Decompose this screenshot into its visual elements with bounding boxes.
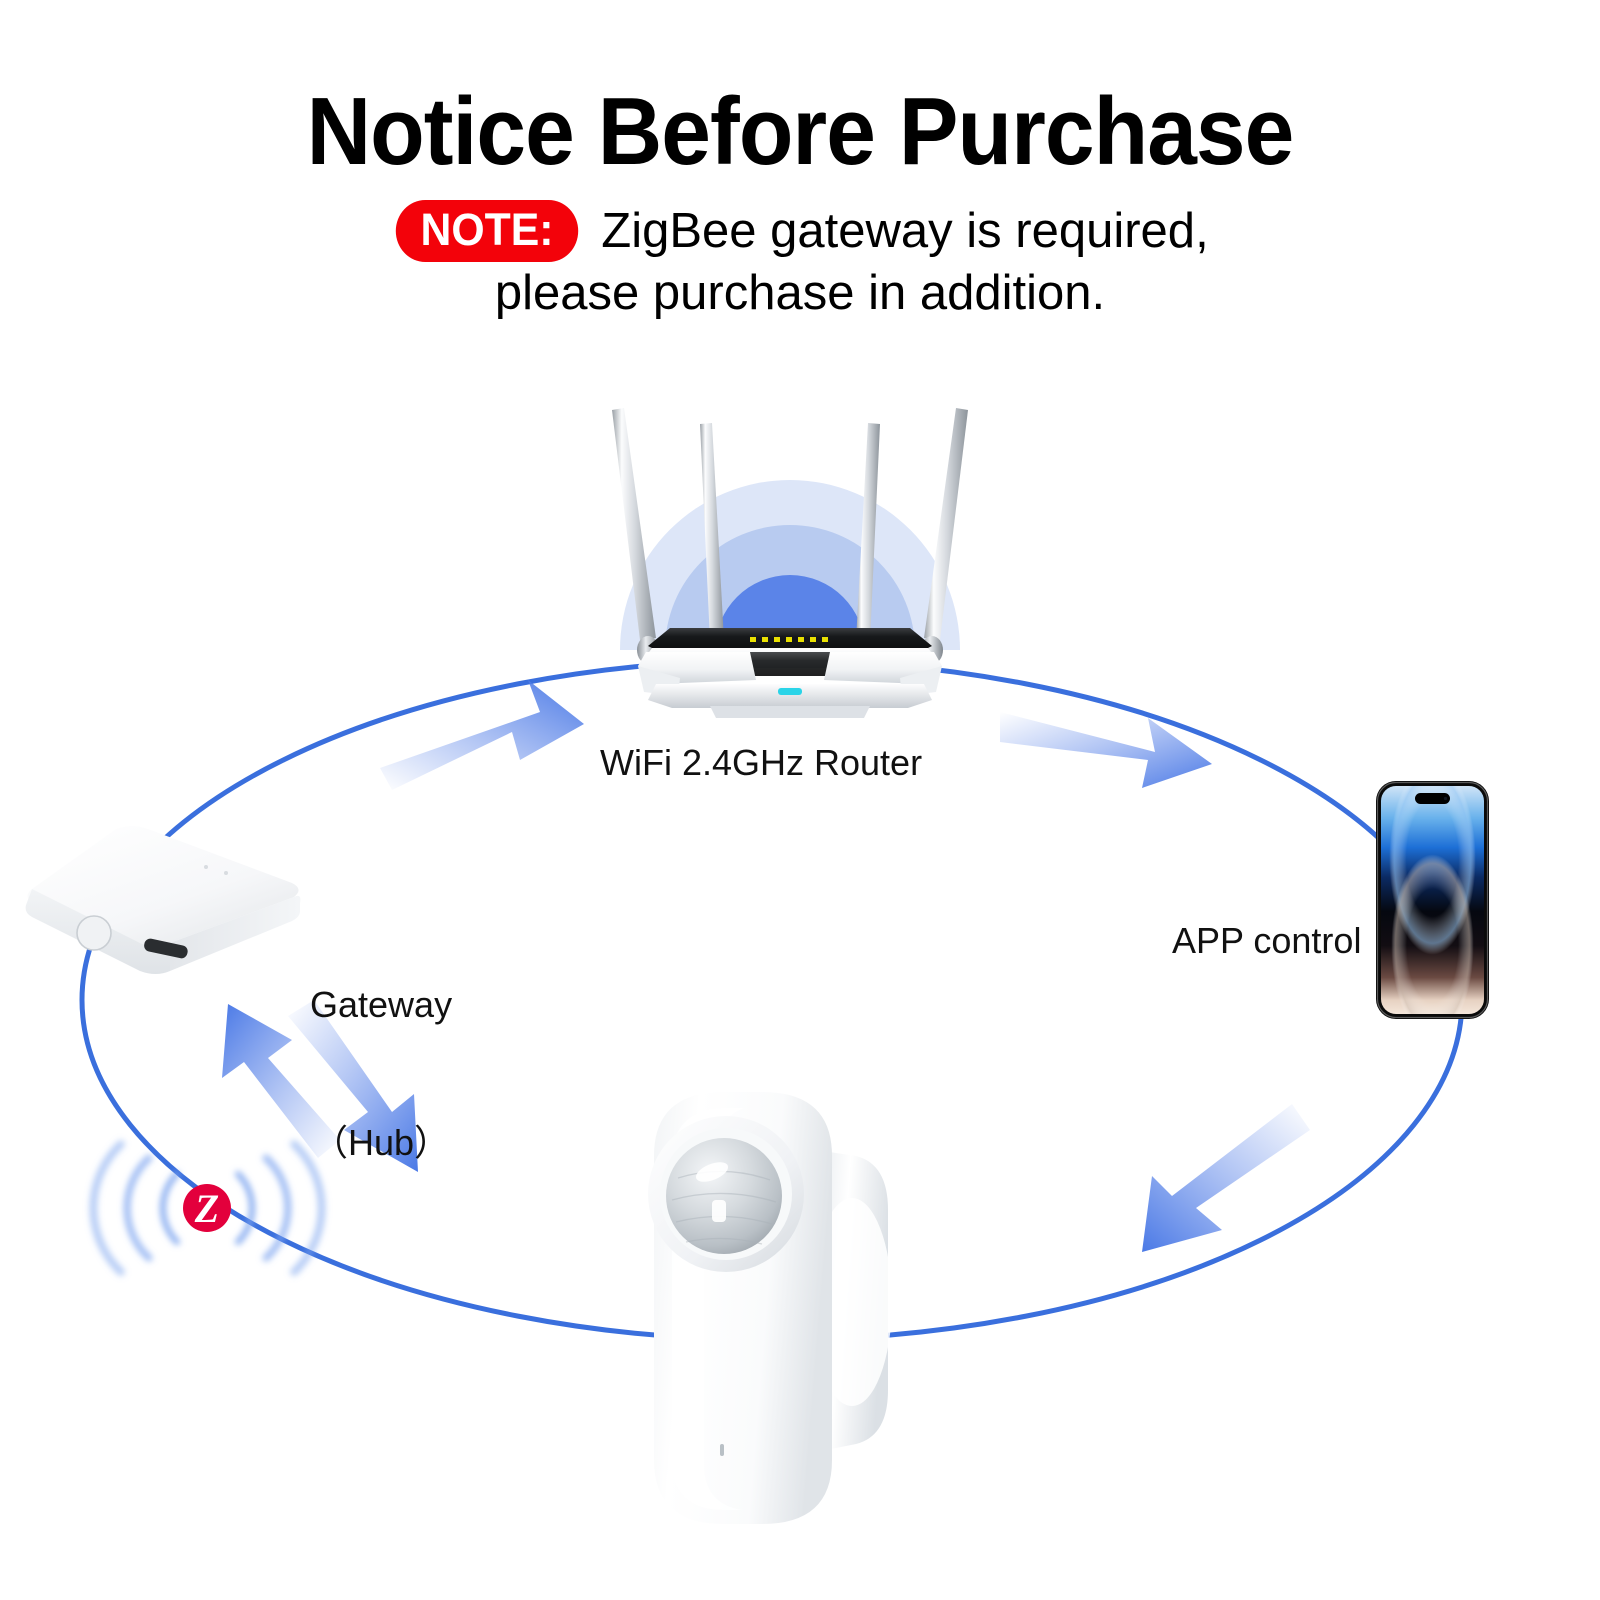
router-body [638,628,942,718]
gateway-reset-button[interactable] [77,916,111,950]
note-line-1: NOTE: ZigBee gateway is required, [0,200,1600,262]
connection-diagram: WiFi 2.4GHz Router [0,340,1600,1600]
router-power-led [778,688,802,695]
note-badge: NOTE: [396,200,578,262]
zigbee-logo-letter: Z [194,1186,219,1231]
wifi-signal-arcs [620,480,960,650]
gateway-label-line-1: Gateway [310,982,452,1028]
wifi-router [560,400,1020,720]
smartphone [1375,780,1490,1020]
pir-lens-dome [666,1138,782,1254]
note-text-line-2: please purchase in addition. [0,265,1600,321]
pir-indicator-pinhole [720,1444,724,1456]
zigbee-signal: Z [75,1130,340,1285]
pir-motion-sensor [620,1060,920,1560]
page-title: Notice Before Purchase [56,84,1544,180]
app-control-label: APP control [1172,918,1361,964]
router-label: WiFi 2.4GHz Router [600,740,922,786]
note-text-line-1: ZigBee gateway is required, [601,203,1208,259]
header: Notice Before Purchase NOTE: ZigBee gate… [0,0,1600,340]
zigbee-gateway [20,825,310,975]
arrow-gateway-to-router [380,680,584,790]
